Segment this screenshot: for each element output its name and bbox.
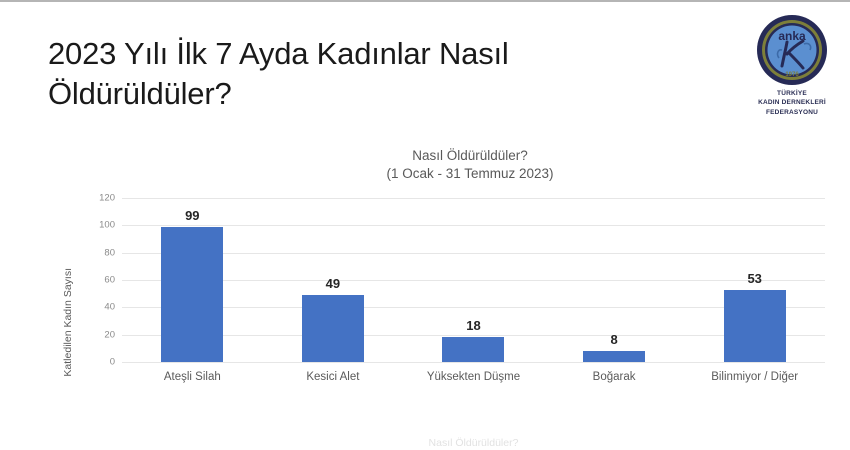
x-axis-title: Nasıl Öldürüldüler? bbox=[122, 437, 825, 449]
bar-value-label: 18 bbox=[466, 318, 480, 333]
slide-canvas: 2023 Yılı İlk 7 Ayda Kadınlar Nasıl Öldü… bbox=[0, 0, 850, 450]
x-axis-category-label: Ateşli Silah bbox=[164, 371, 221, 383]
y-axis-tick-label: 40 bbox=[104, 302, 115, 313]
bar[interactable] bbox=[302, 295, 364, 362]
bar-group: 18Yüksekten Düşme bbox=[403, 198, 544, 362]
gridline: 0 bbox=[122, 362, 825, 363]
page-title: 2023 Yılı İlk 7 Ayda Kadınlar Nasıl Öldü… bbox=[48, 34, 648, 113]
chart-title-block: Nasıl Öldürüldüler? (1 Ocak - 31 Temmuz … bbox=[120, 147, 820, 183]
bar-value-label: 53 bbox=[747, 271, 761, 286]
plot-area: 120100806040200 99Ateşli Silah49Kesici A… bbox=[122, 198, 825, 362]
organization-name-line-2: KADIN DERNEKLERİ bbox=[742, 98, 842, 107]
bar[interactable] bbox=[583, 351, 645, 362]
organization-name-line-3: FEDERASYONU bbox=[742, 108, 842, 117]
x-axis-category-label: Yüksekten Düşme bbox=[427, 371, 520, 383]
chart-title: Nasıl Öldürüldüler? bbox=[120, 147, 820, 165]
y-axis-tick-label: 0 bbox=[110, 357, 115, 368]
organization-name-line-1: TÜRKİYE bbox=[742, 89, 842, 98]
bar-value-label: 8 bbox=[610, 332, 617, 347]
svg-text:1976: 1976 bbox=[785, 72, 799, 78]
bar-group: 49Kesici Alet bbox=[263, 198, 404, 362]
bar-series: 99Ateşli Silah49Kesici Alet18Yüksekten D… bbox=[122, 198, 825, 362]
bar-value-label: 49 bbox=[326, 276, 340, 291]
y-axis-tick-label: 100 bbox=[99, 220, 115, 231]
bar-group: 99Ateşli Silah bbox=[122, 198, 263, 362]
bar[interactable] bbox=[442, 337, 504, 362]
page-title-line-2: Öldürüldüler? bbox=[48, 74, 648, 114]
bar-chart: Nasıl Öldürüldüler? (1 Ocak - 31 Temmuz … bbox=[0, 142, 850, 450]
y-axis-title: Katledilen Kadın Sayısı bbox=[62, 268, 76, 377]
page-title-line-1: 2023 Yılı İlk 7 Ayda Kadınlar Nasıl bbox=[48, 34, 648, 74]
x-axis-category-label: Boğarak bbox=[593, 371, 636, 383]
bar[interactable] bbox=[161, 227, 223, 362]
bar-group: 53Bilinmiyor / Diğer bbox=[684, 198, 825, 362]
chart-subtitle: (1 Ocak - 31 Temmuz 2023) bbox=[120, 165, 820, 183]
y-axis-tick-label: 60 bbox=[104, 275, 115, 286]
x-axis-category-label: Kesici Alet bbox=[306, 371, 359, 383]
y-axis-tick-label: 20 bbox=[104, 329, 115, 340]
y-axis-tick-label: 120 bbox=[99, 193, 115, 204]
organization-name: TÜRKİYE KADIN DERNEKLERİ FEDERASYONU bbox=[742, 89, 842, 117]
y-axis-tick-label: 80 bbox=[104, 247, 115, 258]
anka-emblem-icon: anka 1976 bbox=[756, 14, 828, 86]
bar-group: 8Boğarak bbox=[544, 198, 685, 362]
bar[interactable] bbox=[724, 290, 786, 362]
organization-logo: anka 1976 TÜRKİYE KADIN DERNEKLERİ FEDER… bbox=[742, 14, 842, 117]
x-axis-category-label: Bilinmiyor / Diğer bbox=[711, 371, 798, 383]
bar-value-label: 99 bbox=[185, 208, 199, 223]
